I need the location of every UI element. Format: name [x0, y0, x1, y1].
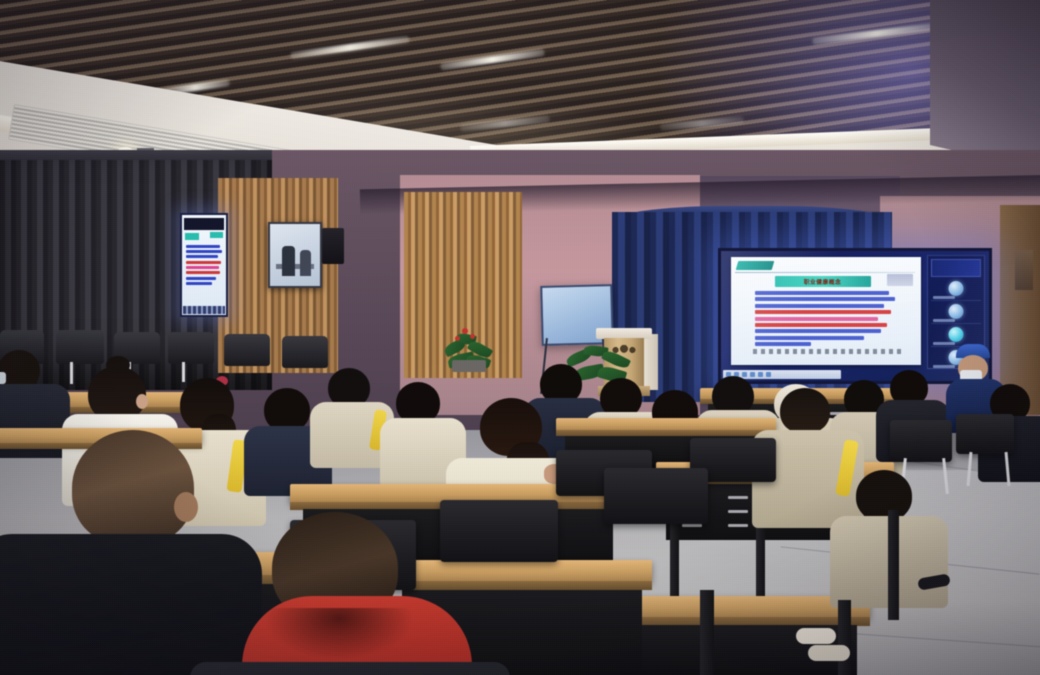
secondary-display-textline [186, 271, 220, 274]
secondary-display-accent [185, 233, 199, 240]
wall-panel-right [1015, 250, 1033, 290]
taskbar-item[interactable] [742, 372, 747, 377]
app-rail-item-label [933, 319, 955, 322]
desk-leg [838, 600, 851, 675]
app-rail-header [931, 259, 981, 277]
ceiling-corner-wall [930, 0, 1040, 175]
circle-app-icon[interactable] [949, 304, 964, 319]
secondary-display-textline [186, 255, 218, 258]
slide-hairline-rule [735, 272, 915, 273]
secondary-display-textline [186, 266, 219, 269]
slide-text-line [755, 291, 889, 295]
training-chair[interactable] [440, 500, 558, 562]
planter-box [452, 360, 486, 372]
hood-shadow [264, 608, 414, 660]
secondary-wall-display[interactable] [180, 213, 228, 317]
desk-panel-slot [728, 510, 748, 513]
secondary-display-textline [186, 250, 222, 253]
attendee-head [780, 388, 830, 434]
desk-panel-slot [728, 524, 748, 527]
red-flower [462, 328, 468, 334]
empty-chair[interactable] [168, 332, 214, 364]
app-rail-item[interactable] [931, 301, 981, 324]
slide-title-text: 职业健康概念 [804, 277, 841, 286]
slide-text-line [755, 304, 884, 308]
slide-text-line [755, 310, 891, 314]
secondary-display-textline [186, 282, 212, 285]
secondary-display-textline [186, 277, 216, 280]
slide-accent-tab [736, 261, 775, 270]
red-flower [470, 334, 475, 339]
potted-plant-center [440, 320, 502, 382]
chair-leg [182, 362, 185, 382]
attendee-torso [190, 662, 510, 675]
slide-text-line [755, 323, 887, 327]
training-chair[interactable] [890, 420, 952, 462]
slide-text-line [755, 342, 811, 346]
empty-chair[interactable] [56, 330, 104, 364]
desk-edge [392, 581, 652, 590]
wall-speaker [322, 228, 344, 264]
desk-panel-slot [728, 496, 748, 499]
secondary-display-textline [186, 245, 220, 248]
desk-leg [700, 590, 714, 675]
slide-text-line [755, 336, 864, 340]
app-rail-item-label [933, 296, 955, 299]
slide-text-line [755, 329, 881, 333]
training-room-photo: 职业健康概念 [0, 0, 1040, 675]
shoe [808, 645, 850, 661]
circle-app-icon-cyan[interactable] [949, 327, 964, 342]
desk-panel-slot [682, 524, 702, 527]
framed-photo-figure [282, 246, 295, 276]
app-rail-item[interactable] [931, 278, 981, 301]
presentation-slide: 职业健康概念 [731, 257, 921, 365]
app-rail-item-label [933, 342, 955, 345]
taskbar-item[interactable] [750, 372, 755, 377]
desk-leg [888, 510, 899, 620]
attendee-head [856, 470, 912, 522]
slide-footer-text [753, 349, 901, 354]
empty-chair[interactable] [282, 336, 328, 368]
slide-body-text [755, 291, 895, 349]
slide-text-line [755, 317, 878, 321]
face-mask [0, 372, 6, 384]
red-flower [455, 336, 460, 341]
interactive-smart-board[interactable]: 职业健康概念 [718, 248, 992, 384]
shoe [796, 628, 836, 644]
secondary-display-topbar [184, 218, 224, 230]
framed-photo-figure [300, 250, 311, 276]
circle-app-icon[interactable] [949, 281, 964, 296]
secondary-display-taskbar[interactable] [183, 306, 225, 314]
secondary-display-textline [186, 261, 221, 264]
training-chair[interactable] [604, 468, 708, 524]
training-chair[interactable] [956, 414, 1014, 454]
secondary-display-accent [210, 232, 223, 238]
app-rail-item-label [933, 365, 955, 368]
slide-title: 职业健康概念 [775, 276, 871, 287]
taskbar-item[interactable] [758, 372, 763, 377]
attendee-ear [174, 492, 198, 522]
slide-text-line [755, 297, 895, 301]
attendee-head [72, 430, 194, 546]
attendee-torso [0, 534, 262, 675]
empty-chair[interactable] [224, 334, 270, 366]
taskbar-item[interactable] [766, 372, 771, 377]
framed-photograph [268, 222, 322, 288]
slide-watermark-logo [887, 274, 913, 286]
chair-leg [70, 362, 73, 384]
desk-top [392, 560, 652, 582]
attendee-ear [136, 394, 148, 409]
